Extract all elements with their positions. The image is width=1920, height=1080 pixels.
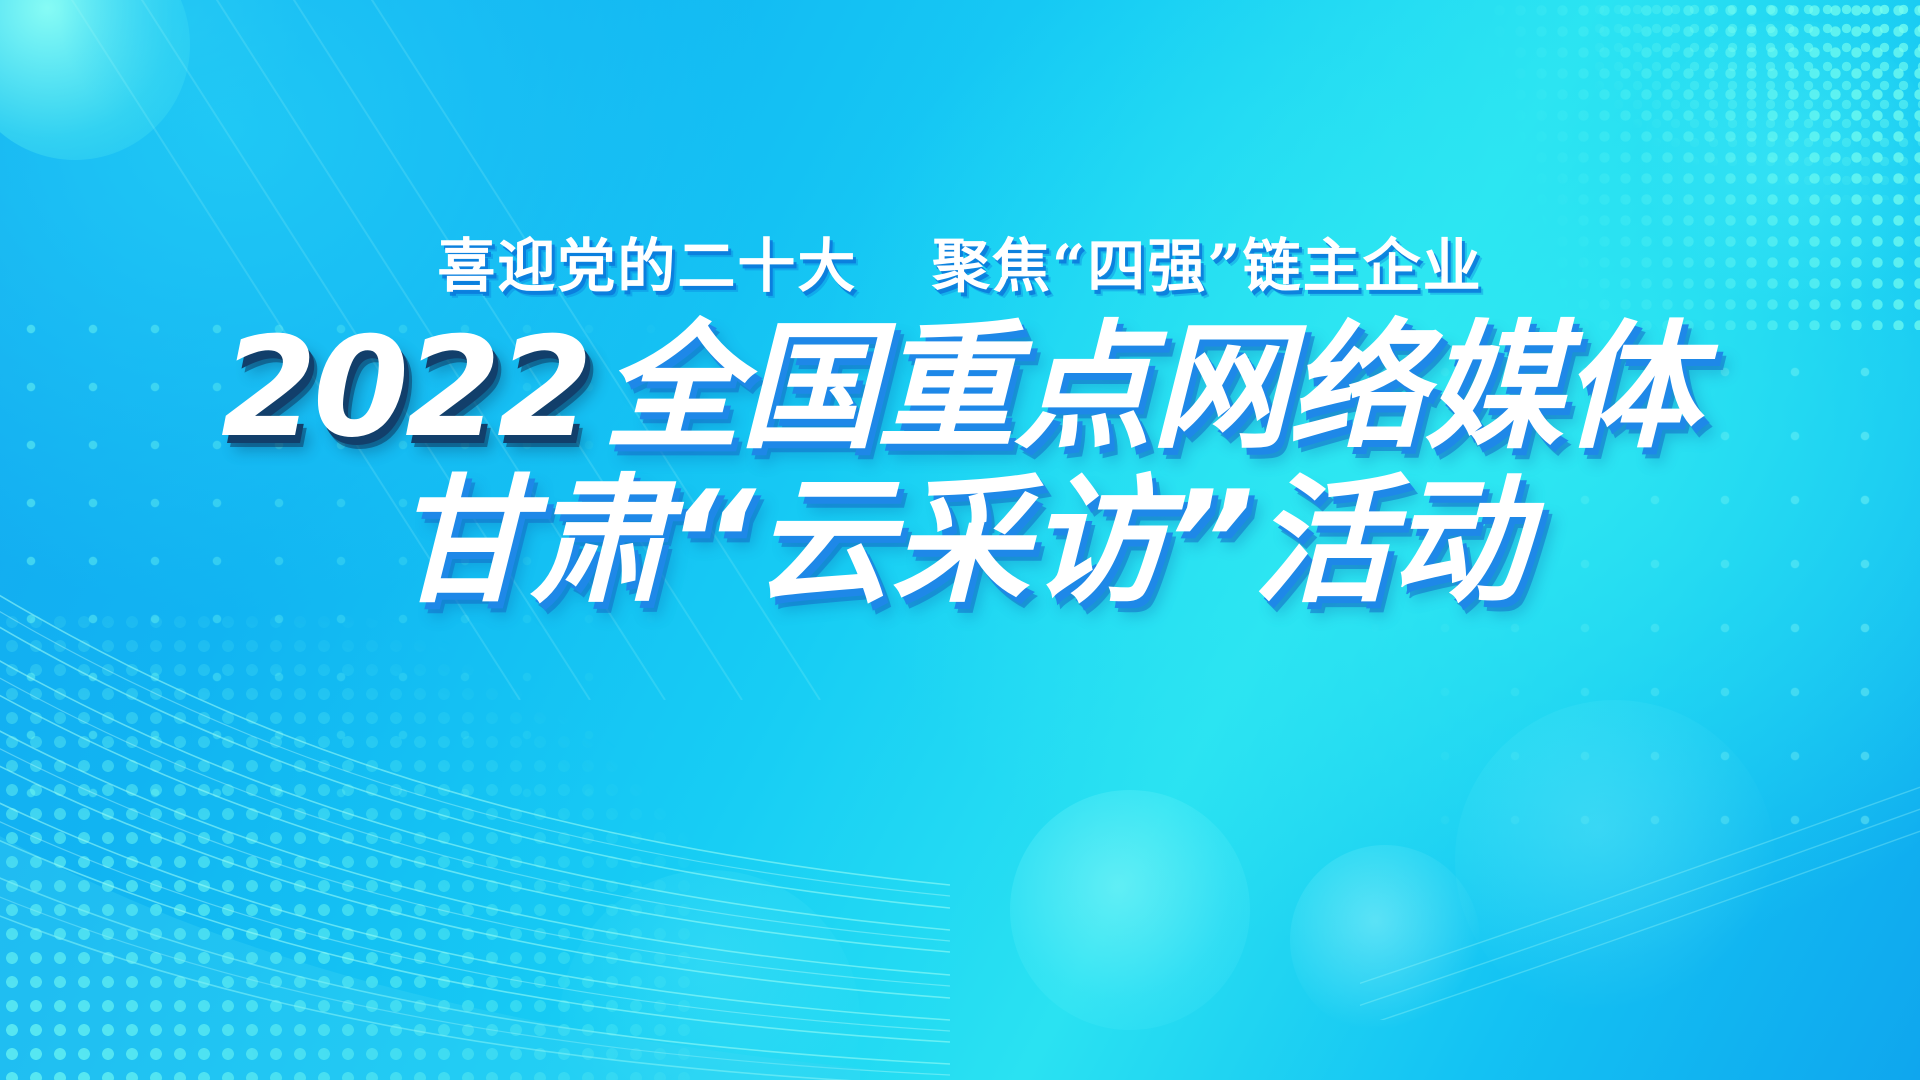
- main-title-line-2-text: 甘肃“云采访”活动: [393, 461, 1528, 622]
- bokeh-circle: [560, 870, 860, 1080]
- bokeh-circle: [1290, 845, 1480, 1035]
- main-title-line-1: 2022全国重点网络媒体: [0, 319, 1920, 457]
- subtitle-part-1: 喜迎党的二十大: [437, 232, 857, 300]
- title-group: 喜迎党的二十大 聚焦“四强”链主企业 2022全国重点网络媒体 甘肃“云采访”活…: [0, 236, 1920, 611]
- bokeh-circle: [1010, 790, 1250, 1030]
- bokeh-circle: [58, 0, 308, 140]
- main-title-line-1-text: 全国重点网络媒体: [603, 307, 1699, 468]
- halftone-dots-top-right-dense: [1590, 0, 1920, 200]
- soft-sweep-highlight: [0, 600, 860, 1080]
- halftone-dots-bottom-left: [0, 610, 700, 1080]
- bokeh-circle: [0, 0, 190, 160]
- subtitle-line: 喜迎党的二十大 聚焦“四强”链主企业: [0, 236, 1920, 297]
- main-title-line-2: 甘肃“云采访”活动: [0, 473, 1920, 611]
- right-thin-lines: [1360, 660, 1920, 1020]
- bokeh-circle: [1455, 700, 1775, 1020]
- promo-banner: 喜迎党的二十大 聚焦“四强”链主企业 2022全国重点网络媒体 甘肃“云采访”活…: [0, 0, 1920, 1080]
- subtitle-part-2: 聚焦“四强”链主企业: [932, 232, 1483, 300]
- year-label: 2022: [221, 307, 589, 468]
